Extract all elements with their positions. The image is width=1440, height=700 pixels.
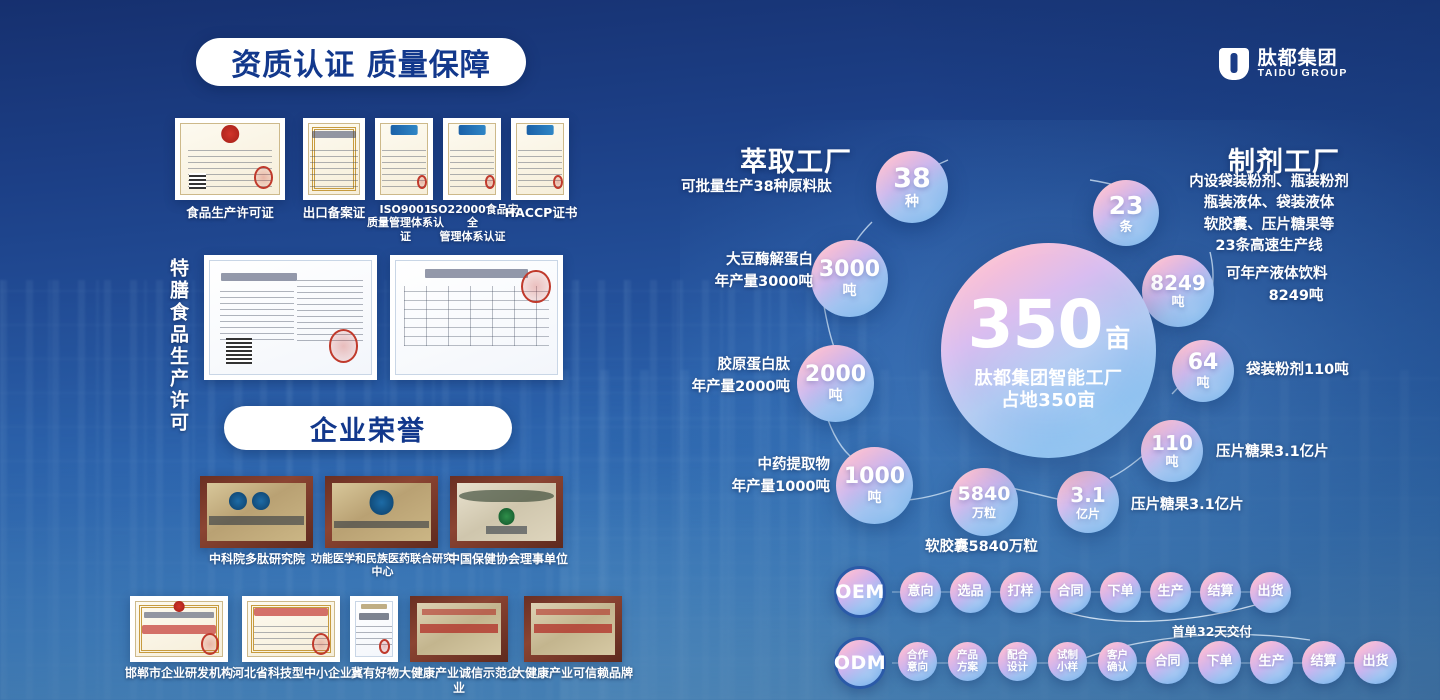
oem-step-5[interactable]: 下单 xyxy=(1100,572,1141,613)
prep-sub-line-4: 23条高速生产线 xyxy=(1186,236,1352,257)
odm-step-3[interactable]: 配合 设计 xyxy=(998,642,1037,681)
odm-step-line-2: 方案 xyxy=(957,662,978,674)
oem-step-2[interactable]: 选品 xyxy=(950,572,991,613)
odm-step-line-1: 产品 xyxy=(957,650,978,662)
honors-title: 企业荣誉 xyxy=(310,409,426,448)
label-line-2: 8249吨 xyxy=(1226,286,1366,308)
honor-caption: 功能医学和民族医药联合研究中心 xyxy=(310,552,455,579)
bubble-number: 8249 xyxy=(1150,273,1206,293)
odm-step-8[interactable]: 生产 xyxy=(1250,641,1293,684)
oem-step-4[interactable]: 合同 xyxy=(1050,572,1091,613)
oem-badge[interactable]: OEM xyxy=(834,566,886,618)
bubble-number: 3.1 xyxy=(1070,485,1105,505)
bubble-5840-capsules[interactable]: 5840 万粒 xyxy=(950,468,1018,536)
logo-name-cn: 肽都集团 xyxy=(1258,49,1348,69)
odm-step-line-2: 小样 xyxy=(1057,662,1078,674)
bubble-unit: 亿片 xyxy=(1076,508,1100,520)
honor-plaque[interactable] xyxy=(200,476,313,548)
label-soy-protein: 大豆酶解蛋白 年产量3000吨 xyxy=(673,250,813,294)
certificate-card[interactable] xyxy=(511,118,569,200)
odm-step-1[interactable]: 合作 意向 xyxy=(898,642,937,681)
bubble-23-lines[interactable]: 23 条 xyxy=(1093,180,1159,246)
bubble-3-1-tablets[interactable]: 3.1 亿片 xyxy=(1057,471,1119,533)
certificate-card-wide[interactable] xyxy=(204,255,377,380)
oem-step-3[interactable]: 打样 xyxy=(1000,572,1041,613)
logo-mark-icon xyxy=(1219,48,1249,80)
certificate-caption: HACCP证书 xyxy=(500,205,582,220)
oem-step-6[interactable]: 生产 xyxy=(1150,572,1191,613)
certificate-card[interactable] xyxy=(303,118,365,200)
bubble-number: 23 xyxy=(1109,193,1144,218)
honors-title-pill: 企业荣誉 xyxy=(224,406,512,450)
bubble-unit: 吨 xyxy=(1171,296,1184,309)
center-desc-line-1: 肽都集团智能工厂 xyxy=(975,370,1123,388)
bubble-1000-tons[interactable]: 1000 吨 xyxy=(836,447,913,524)
label-line-2: 年产量2000吨 xyxy=(660,377,790,399)
honor-caption: 河北省科技型中小企业 xyxy=(230,666,354,681)
certificate-caption: 食品生产许可证 xyxy=(165,205,295,220)
certificate-card-wide[interactable] xyxy=(390,255,563,380)
bubble-unit: 吨 xyxy=(829,389,843,403)
bubble-unit: 吨 xyxy=(1165,456,1178,469)
bubble-number: 2000 xyxy=(805,364,866,386)
label-herbal-extract: 中药提取物 年产量1000吨 xyxy=(700,455,830,499)
certificate-card[interactable] xyxy=(175,118,285,200)
bubble-number: 3000 xyxy=(819,259,880,281)
extraction-factory-subtitle: 可批量生产38种原料肽 xyxy=(681,177,832,198)
label-soft-capsule: 软胶囊5840万粒 xyxy=(925,537,1038,559)
odm-step-line-1: 客户 xyxy=(1107,650,1128,662)
odm-step-5[interactable]: 客户 确认 xyxy=(1098,642,1137,681)
center-desc-line-2: 占地350亩 xyxy=(1001,392,1096,410)
page-title-pill: 资质认证 质量保障 xyxy=(196,38,526,86)
bubble-unit: 条 xyxy=(1119,221,1132,234)
bubble-unit: 吨 xyxy=(868,491,882,505)
label-line-1: 大豆酶解蛋白 xyxy=(673,250,813,272)
odm-step-line-2: 设计 xyxy=(1007,662,1028,674)
odm-step-10[interactable]: 出货 xyxy=(1354,641,1397,684)
odm-step-9[interactable]: 结算 xyxy=(1302,641,1345,684)
honor-certificate[interactable] xyxy=(350,596,398,662)
label-line-1: 可年产液体饮料 xyxy=(1226,264,1366,286)
oem-step-7[interactable]: 结算 xyxy=(1200,572,1241,613)
center-number-row: 350亩 xyxy=(968,292,1130,358)
oem-delivery-note: 首单32天交付 xyxy=(1172,621,1252,640)
honor-caption: 中国保健协会理事单位 xyxy=(438,552,578,567)
odm-step-line-2: 意向 xyxy=(907,662,928,674)
honor-plaque[interactable] xyxy=(410,596,508,662)
bubble-38-varieties[interactable]: 38 种 xyxy=(876,151,948,223)
label-line-2: 年产量1000吨 xyxy=(700,477,830,499)
oem-step-1[interactable]: 意向 xyxy=(900,572,941,613)
bubble-number: 64 xyxy=(1188,352,1219,374)
label-line-2: 年产量3000吨 xyxy=(673,272,813,294)
odm-step-line-1: 配合 xyxy=(1007,650,1028,662)
odm-step-6[interactable]: 合同 xyxy=(1146,641,1189,684)
honor-caption: 中科院多肽研究院 xyxy=(192,552,322,567)
bubble-unit: 种 xyxy=(905,195,919,209)
preparation-factory-subtitle: 内设袋装粉剂、瓶装粉剂 瓶装液体、袋装液体 软胶囊、压片糖果等 23条高速生产线 xyxy=(1186,172,1352,258)
center-number: 350 xyxy=(968,286,1103,363)
odm-step-line-2: 确认 xyxy=(1107,662,1128,674)
certificate-card[interactable] xyxy=(443,118,501,200)
bubble-110-tons[interactable]: 110 吨 xyxy=(1141,420,1203,482)
honor-caption: 邯郸市企业研发机构 xyxy=(118,666,240,681)
bubble-unit: 吨 xyxy=(1196,377,1209,390)
prep-sub-line-2: 瓶装液体、袋装液体 xyxy=(1186,193,1352,214)
label-liquid-beverage: 可年产液体饮料 8249吨 xyxy=(1226,264,1366,308)
honor-certificate[interactable] xyxy=(130,596,228,662)
special-food-license-vertical-caption: 特膳食品生产许可 xyxy=(166,258,192,434)
extraction-factory-title: 萃取工厂 xyxy=(740,140,852,179)
label-line-1: 胶原蛋白肽 xyxy=(660,355,790,377)
page-title: 资质认证 质量保障 xyxy=(231,40,490,84)
bubble-8249-tons[interactable]: 8249 吨 xyxy=(1142,255,1214,327)
bubble-center-350-mu[interactable]: 350亩 肽都集团智能工厂 占地350亩 xyxy=(941,243,1156,458)
label-collagen-peptide: 胶原蛋白肽 年产量2000吨 xyxy=(660,355,790,399)
bubble-64-tons[interactable]: 64 吨 xyxy=(1172,340,1234,402)
bubble-number: 38 xyxy=(893,165,931,192)
bubble-number: 5840 xyxy=(958,485,1011,504)
oem-step-8[interactable]: 出货 xyxy=(1250,572,1291,613)
bubble-number: 1000 xyxy=(844,466,905,488)
bubble-unit: 吨 xyxy=(843,284,857,298)
infographic-canvas: 资质认证 质量保障 肽都集团 TAIDU GROUP 食品生产许可证 出口备案证… xyxy=(0,0,1440,700)
odm-step-4[interactable]: 试制 小样 xyxy=(1048,642,1087,681)
brand-logo: 肽都集团 TAIDU GROUP xyxy=(1219,48,1348,80)
honor-plaque[interactable] xyxy=(524,596,622,662)
odm-step-line-1: 合作 xyxy=(907,650,928,662)
bubble-unit: 万粒 xyxy=(972,507,996,519)
bubble-3000-tons[interactable]: 3000 吨 xyxy=(811,240,888,317)
odm-step-2[interactable]: 产品 方案 xyxy=(948,642,987,681)
honor-caption: 大健康产业诚信示范企业 xyxy=(396,666,522,695)
certificate-caption-line2: 管理体系认证 xyxy=(425,230,520,243)
logo-name-en: TAIDU GROUP xyxy=(1258,68,1348,79)
bubble-2000-tons[interactable]: 2000 吨 xyxy=(797,345,874,422)
certificate-card[interactable] xyxy=(375,118,433,200)
prep-sub-line-3: 软胶囊、压片糖果等 xyxy=(1186,215,1352,236)
label-bagged-powder: 压片糖果3.1亿片 xyxy=(1216,442,1329,464)
label-pressed-candy-text: 压片糖果3.1亿片 xyxy=(1131,495,1244,517)
honor-caption: 大健康产业可信赖品牌 xyxy=(510,666,636,681)
label-bottled-powder: 袋装粉剂110吨 xyxy=(1246,360,1349,382)
bubble-number: 110 xyxy=(1151,433,1193,453)
center-unit: 亩 xyxy=(1105,324,1129,353)
honor-certificate[interactable] xyxy=(242,596,340,662)
odm-badge[interactable]: ODM xyxy=(834,637,886,689)
honor-plaque[interactable] xyxy=(325,476,438,548)
label-line-1: 中药提取物 xyxy=(700,455,830,477)
prep-sub-line-1: 内设袋装粉剂、瓶装粉剂 xyxy=(1186,172,1352,193)
honor-plaque[interactable] xyxy=(450,476,563,548)
odm-step-line-1: 试制 xyxy=(1057,650,1078,662)
odm-step-7[interactable]: 下单 xyxy=(1198,641,1241,684)
